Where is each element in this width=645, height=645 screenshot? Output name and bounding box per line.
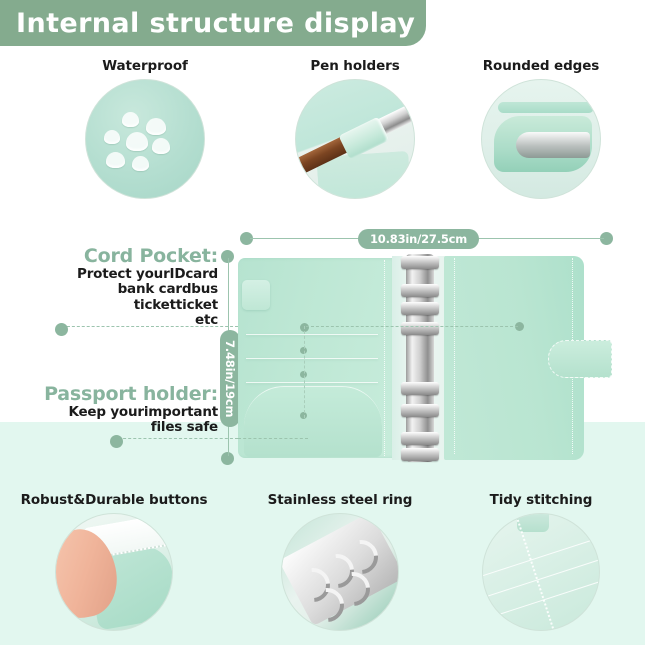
feature-dot-card-slot-1 bbox=[300, 323, 309, 332]
binder-pen-tab bbox=[242, 280, 270, 310]
feature-label-waterproof: Waterproof bbox=[56, 58, 234, 74]
leader-dot-passport bbox=[110, 435, 123, 448]
rounded-edge-icon bbox=[481, 79, 601, 199]
feature-card-waterproof: Waterproof bbox=[56, 58, 234, 199]
pen-loop-icon bbox=[295, 79, 415, 199]
binder-left-interior bbox=[238, 258, 396, 458]
annotation-passport-holder: Passport holder: Keep yourimportant file… bbox=[18, 384, 218, 436]
feature-label-pen-holders: Pen holders bbox=[266, 58, 444, 74]
annotation-title-cord-pocket: Cord Pocket: bbox=[18, 246, 218, 267]
binder-cord-pocket bbox=[244, 386, 382, 457]
leader-line-mid bbox=[306, 326, 518, 327]
feature-card-pen-holders: Pen holders bbox=[266, 58, 444, 199]
leader-line-vertical-slots bbox=[304, 326, 305, 418]
binder-ring-icon bbox=[281, 513, 399, 631]
feature-label-robust-buttons: Robust&Durable buttons bbox=[14, 492, 214, 508]
header-banner: Internal structure display bbox=[0, 0, 426, 46]
feature-card-robust-buttons: Robust&Durable buttons bbox=[14, 492, 214, 631]
page-title: Internal structure display bbox=[0, 8, 415, 39]
leader-line-passport bbox=[118, 438, 238, 439]
annotation-body-cord-pocket: Protect yourIDcard bank cardbus ticketti… bbox=[18, 267, 218, 329]
feature-card-tidy-stitching: Tidy stitching bbox=[452, 492, 630, 631]
snap-button-icon bbox=[55, 513, 173, 631]
stitching-icon bbox=[482, 513, 600, 631]
feature-card-steel-ring: Stainless steel ring bbox=[244, 492, 436, 631]
product-image-binder bbox=[238, 258, 616, 458]
annotation-body-passport-holder: Keep yourimportant files safe bbox=[18, 405, 218, 436]
feature-label-tidy-stitching: Tidy stitching bbox=[452, 492, 630, 508]
annotation-cord-pocket: Cord Pocket: Protect yourIDcard bank car… bbox=[18, 246, 218, 329]
dimension-label-width: 10.83in/27.5cm bbox=[358, 229, 479, 249]
feature-label-steel-ring: Stainless steel ring bbox=[244, 492, 436, 508]
feature-card-rounded-edges: Rounded edges bbox=[452, 58, 630, 199]
binder-ring-mechanism bbox=[406, 254, 434, 462]
annotation-title-passport-holder: Passport holder: bbox=[18, 384, 218, 405]
leader-line-lower bbox=[238, 438, 308, 439]
dimension-label-height: 7.48in/19cm bbox=[220, 330, 240, 427]
binder-clasp-strap bbox=[548, 340, 612, 378]
feature-label-rounded-edges: Rounded edges bbox=[452, 58, 630, 74]
water-droplets-icon bbox=[85, 79, 205, 199]
